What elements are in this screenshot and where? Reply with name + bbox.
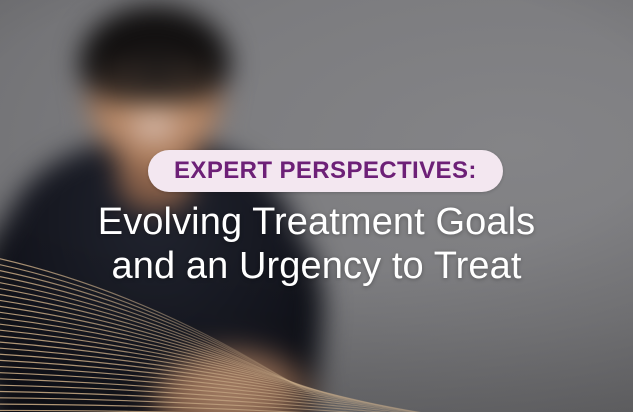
video-thumbnail-card: EXPERT PERSPECTIVES: Evolving Treatment … (0, 0, 633, 412)
eyebrow-badge: EXPERT PERSPECTIVES: (148, 150, 503, 192)
page-title: Evolving Treatment Goals and an Urgency … (0, 200, 633, 288)
page-title-line-2: and an Urgency to Treat (0, 244, 633, 288)
page-title-line-1: Evolving Treatment Goals (0, 200, 633, 244)
eyebrow-label: EXPERT PERSPECTIVES: (174, 159, 477, 183)
title-overlay: EXPERT PERSPECTIVES: Evolving Treatment … (0, 0, 633, 412)
